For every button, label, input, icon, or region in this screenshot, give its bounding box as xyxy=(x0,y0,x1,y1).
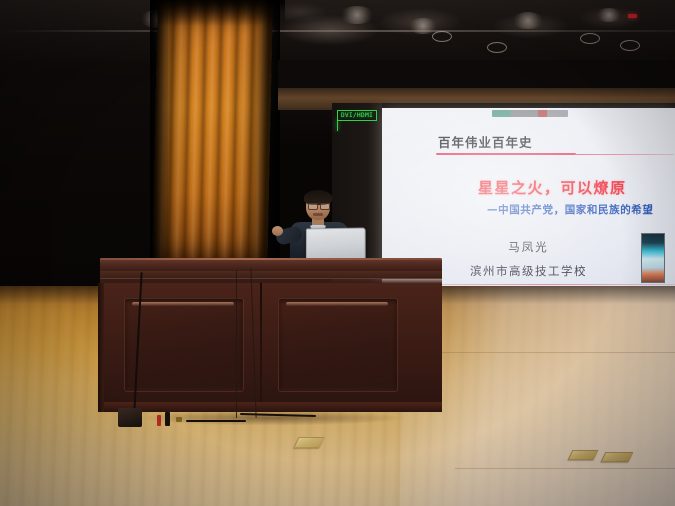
wooden-podium xyxy=(100,258,442,418)
slide-title-underline-extension xyxy=(574,154,674,155)
presenter-mouth xyxy=(313,213,323,216)
slide-headline: 星星之火，可以燎原 xyxy=(478,180,627,197)
lamp-ring-icon xyxy=(620,40,640,51)
slide-phone-screenshot xyxy=(641,233,665,283)
podium-top-surface xyxy=(100,258,442,271)
floor-seam xyxy=(430,352,675,353)
floor-plate xyxy=(293,437,324,448)
curtain-left-shadow xyxy=(150,0,168,268)
podium-center-seam xyxy=(260,283,262,408)
auditorium-stage-photo: 百年伟业百年史 星星之火，可以燎原 —中国共产党，国家和民族的希望 马凤光 滨州… xyxy=(0,0,675,506)
slide-toolbar-strip xyxy=(492,110,568,117)
floor-plate xyxy=(601,452,634,462)
slide-subtitle: —中国共产党，国家和民族的希望 xyxy=(487,204,654,216)
slide-title: 百年伟业百年史 xyxy=(438,136,533,150)
projector-input-tag: DVI/HDMI xyxy=(337,110,377,121)
indicator-led-icon xyxy=(628,14,637,18)
podium-floor-shadow xyxy=(96,410,448,426)
floor-seam xyxy=(455,468,675,469)
truss-bar xyxy=(0,30,675,32)
podium-panel-left xyxy=(124,298,244,392)
slide-title-underline xyxy=(436,153,576,155)
podium-lip xyxy=(100,271,442,278)
stage-lamp-icon xyxy=(596,8,622,22)
projector-tag-bracket xyxy=(337,119,338,131)
cable xyxy=(236,270,237,418)
podium-panel-right-highlight xyxy=(286,302,388,306)
glasses-lens-right xyxy=(320,203,330,210)
stage-lamp-icon xyxy=(512,12,544,29)
lamp-ring-icon xyxy=(580,33,600,44)
ceiling-lighting-rig xyxy=(0,0,675,62)
stage-curtain xyxy=(152,0,273,268)
podium-left-side xyxy=(98,283,104,412)
podium-panel-right xyxy=(278,298,398,392)
slide-presenter-name: 马凤光 xyxy=(382,241,675,254)
lamp-ring-icon xyxy=(487,42,507,53)
stage-lamp-icon xyxy=(408,18,438,34)
upper-dark-wall xyxy=(278,60,675,90)
stage-lamp-icon xyxy=(340,6,374,24)
curtain-top-shadow xyxy=(150,0,285,26)
floor-plate xyxy=(568,450,599,460)
lamp-ring-icon xyxy=(432,31,452,42)
podium-top-highlight xyxy=(100,258,442,260)
podium-panel-left-highlight xyxy=(132,302,234,306)
glasses-lens-left xyxy=(308,203,318,210)
presenter-hand xyxy=(272,226,283,236)
